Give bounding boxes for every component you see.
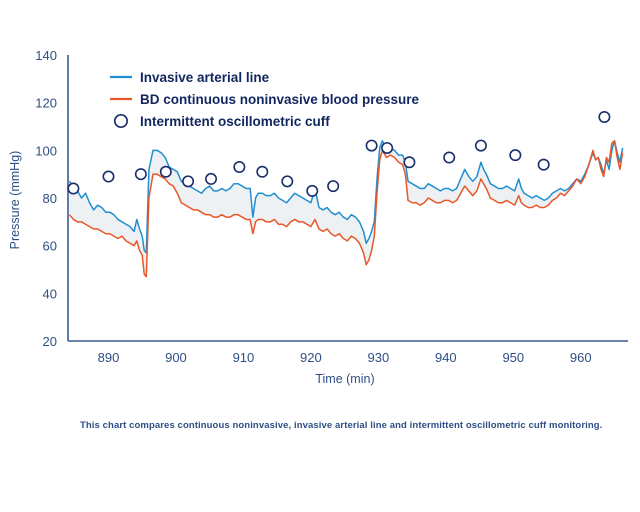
x-tick-label-930: 930: [368, 350, 390, 365]
cuff-marker: [382, 143, 392, 153]
y-tick-label-100: 100: [35, 143, 57, 158]
y-tick-label-120: 120: [35, 96, 57, 111]
cuff-marker: [183, 176, 193, 186]
cuff-marker: [206, 174, 216, 184]
legend-label-2: Intermittent oscillometric cuff: [140, 114, 330, 129]
cuff-marker: [366, 140, 376, 150]
cuff-marker: [444, 152, 454, 162]
cuff-marker: [103, 171, 113, 181]
y-axis-title: Pressure (mmHg): [8, 151, 22, 250]
x-tick-label-900: 900: [165, 350, 187, 365]
legend-open-circle-marker: [115, 115, 127, 127]
cuff-marker: [307, 186, 317, 196]
cuff-marker: [234, 162, 244, 172]
x-tick-label-960: 960: [570, 350, 592, 365]
cuff-marker: [599, 112, 609, 122]
cuff-marker: [404, 157, 414, 167]
x-tick-label-890: 890: [98, 350, 120, 365]
x-tick-label-950: 950: [502, 350, 524, 365]
legend-label-0: Invasive arterial line: [140, 70, 270, 85]
cuff-marker: [136, 169, 146, 179]
y-tick-label-140: 140: [35, 48, 57, 63]
pressure-time-chart: 2040608010012014089090091092093094095096…: [0, 0, 640, 512]
cuff-marker: [68, 183, 78, 193]
cuff-marker: [476, 140, 486, 150]
cuff-marker: [510, 150, 520, 160]
cuff-marker: [538, 159, 548, 169]
y-tick-label-60: 60: [43, 239, 57, 254]
cuff-marker: [161, 167, 171, 177]
cuff-marker: [328, 181, 338, 191]
x-tick-label-910: 910: [233, 350, 255, 365]
cuff-marker: [257, 167, 267, 177]
x-tick-label-920: 920: [300, 350, 322, 365]
chart-figure: 2040608010012014089090091092093094095096…: [0, 0, 640, 512]
x-axis-title: Time (min): [315, 372, 374, 386]
y-tick-label-40: 40: [43, 286, 57, 301]
cuff-marker: [282, 176, 292, 186]
legend-label-1: BD continuous noninvasive blood pressure: [140, 92, 420, 107]
x-tick-label-940: 940: [435, 350, 457, 365]
y-tick-label-80: 80: [43, 191, 57, 206]
y-tick-label-20: 20: [43, 334, 57, 349]
chart-caption: This chart compares continuous noninvasi…: [80, 420, 620, 431]
